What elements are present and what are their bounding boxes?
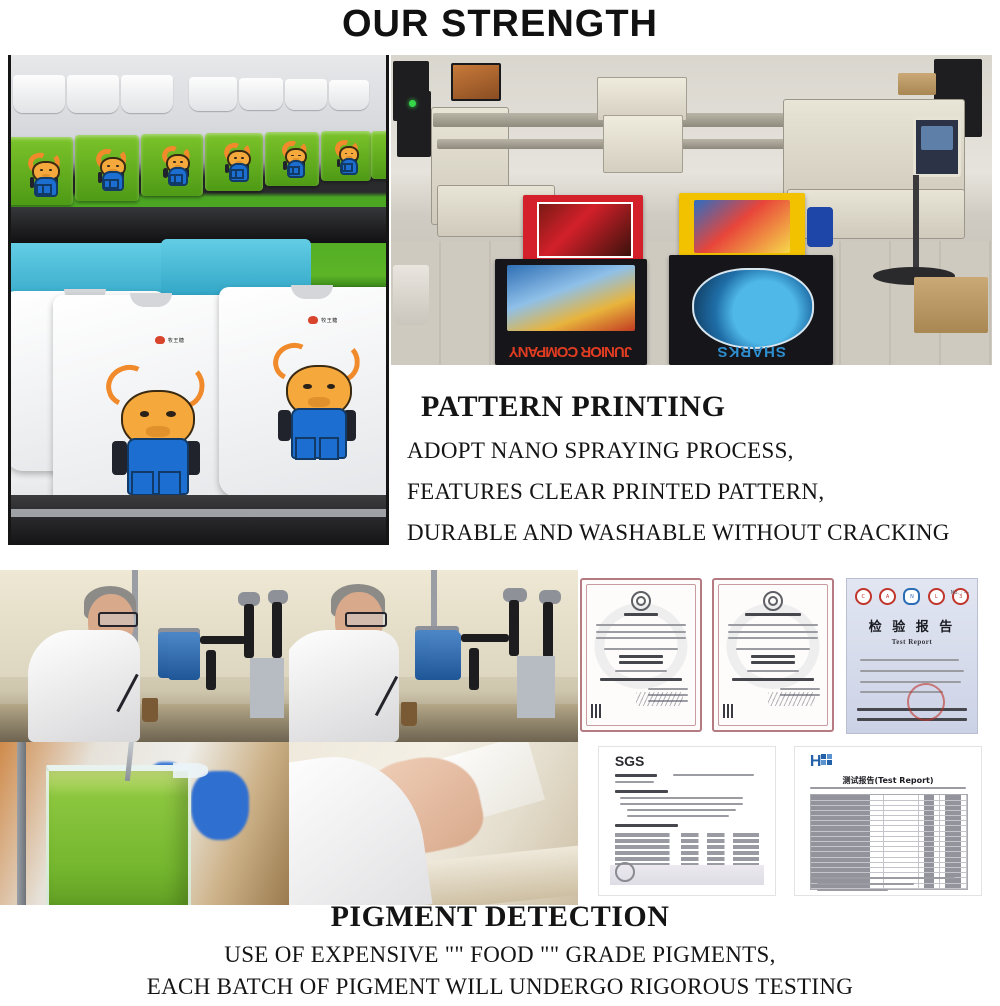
photo-lab-technician-right xyxy=(289,570,578,742)
table-row xyxy=(615,839,759,843)
equipment-column xyxy=(244,604,254,658)
photo-technician-hands-sample xyxy=(289,742,578,905)
pattern-printing-heading: PATTERN PRINTING xyxy=(421,390,992,424)
table-row xyxy=(615,833,759,837)
beaker-with-green-liquid xyxy=(46,765,191,905)
platen-red-print xyxy=(523,195,643,265)
bull-mascot-icon-large xyxy=(104,364,208,496)
brand-logo-mark: 牧王糖 xyxy=(155,336,185,344)
rack-shirt xyxy=(329,80,369,110)
lab-stand xyxy=(250,658,284,718)
clamp-arm xyxy=(469,648,479,690)
pigment-detection-text-block: PIGMENT DETECTION USE OF EXPENSIVE "" FO… xyxy=(0,900,1000,1006)
table-row xyxy=(615,845,759,849)
certificate-text-line xyxy=(648,688,688,690)
report-title-en: Test Report xyxy=(847,638,977,646)
platen-black-print-right: SHARKS xyxy=(669,255,833,365)
report-field-line xyxy=(860,670,964,672)
rack-shirt xyxy=(121,75,173,113)
clamp-arm xyxy=(461,634,509,642)
hj-logo-square-icon xyxy=(821,754,832,765)
certificate-text-line xyxy=(615,670,667,672)
printer-control-screen[interactable] xyxy=(913,117,961,177)
brand-logo-text: 牧王糖 xyxy=(168,337,185,344)
clamp-arm xyxy=(206,650,216,690)
sharks-text: SHARKS xyxy=(679,343,823,360)
certificate-barcode-icon xyxy=(591,704,603,718)
cal-badge-icon: L xyxy=(928,588,945,605)
bull-mascot-icon xyxy=(95,149,127,189)
bull-mascot-icon xyxy=(27,153,61,195)
report-number-label: No. : --- xyxy=(951,590,970,596)
printed-shirt: 牧王糖 xyxy=(219,287,389,497)
safety-glasses-icon xyxy=(345,612,387,627)
pattern-printing-line-2: FEATURES CLEAR PRINTED PATTERN, xyxy=(407,479,992,505)
rack-shirt xyxy=(189,77,237,111)
lab-scene-background xyxy=(0,570,289,742)
certificates-panel: C A N L 3 No. : --- 检 验 报 告 Test Report … xyxy=(580,570,1000,905)
equipment-column xyxy=(272,602,282,658)
technician-lab-coat xyxy=(289,630,399,742)
background-blue-glove xyxy=(191,771,249,839)
hj-results-table xyxy=(810,794,968,889)
poster-root: OUR STRENGTH xyxy=(0,0,1000,1000)
control-tablet xyxy=(451,63,501,101)
rack-shirt xyxy=(285,79,327,110)
certificate-text-line xyxy=(728,624,818,626)
cardboard-box xyxy=(898,73,936,95)
lab-stand xyxy=(517,656,555,718)
photo-uv-flatbed-printer: JUNIOR COMPANY SHARKS xyxy=(391,55,992,365)
lab-mixer-motor xyxy=(168,634,200,680)
bull-mascot-icon xyxy=(161,146,191,184)
page-title: OUR STRENGTH xyxy=(0,2,1000,46)
sgs-section-line xyxy=(615,790,668,793)
plastic-bucket xyxy=(393,265,429,325)
beaker-spout xyxy=(173,763,208,778)
pattern-printing-line-3: DURABLE AND WASHABLE WITHOUT CRACKING xyxy=(407,520,992,546)
machine-base-frame xyxy=(11,495,386,545)
certificate-scope-line xyxy=(732,678,815,681)
photo-green-pigment-beaker xyxy=(0,742,289,905)
brand-bull-icon xyxy=(308,316,318,324)
table-row xyxy=(615,857,759,861)
platen-black-print-left: JUNIOR COMPANY xyxy=(495,259,647,365)
blue-tool xyxy=(807,207,833,247)
floor-carton xyxy=(914,277,988,333)
certificate-iso-english xyxy=(712,578,834,732)
monitor-pole xyxy=(913,175,919,275)
yellow-print-artwork xyxy=(694,200,790,253)
equipment-column xyxy=(543,602,553,658)
hj-footnote-line xyxy=(817,889,888,891)
certificate-text-line xyxy=(596,624,686,626)
lab-scene-background xyxy=(289,570,578,742)
bull-mascot-icon xyxy=(281,141,307,175)
pattern-printing-line-1: ADOPT NANO SPRAYING PROCESS, xyxy=(407,438,992,464)
sample-bottle xyxy=(401,702,417,726)
certificate-standard-line xyxy=(751,655,796,658)
certificate-text-line xyxy=(728,637,818,639)
sgs-header-line xyxy=(615,781,654,783)
cnas-badge-icon: N xyxy=(903,588,920,605)
certificate-signature xyxy=(636,692,683,706)
certificate-text-line xyxy=(736,648,809,650)
conveyor-belt xyxy=(11,207,386,243)
sgs-text-line xyxy=(620,797,743,799)
certificate-scope-line xyxy=(600,678,683,681)
certificate-standard-line xyxy=(751,661,796,664)
certificate-text-line xyxy=(604,648,677,650)
pigment-detection-line-2: EACH BATCH OF PIGMENT WILL UNDERGO RIGOR… xyxy=(0,974,1000,1000)
cqc-badge-icon: C xyxy=(855,588,872,605)
red-print-artwork xyxy=(537,202,632,258)
sgs-text-line xyxy=(620,803,743,805)
hj-header-line xyxy=(810,787,966,789)
lab-mixer-motor xyxy=(429,632,461,680)
certificate-text-line xyxy=(780,688,820,690)
certificate-title-line xyxy=(624,613,657,616)
hj-footnote-line xyxy=(817,883,914,885)
sgs-logo: SGS xyxy=(615,753,645,769)
brand-logo-mark: 牧王糖 xyxy=(308,316,338,324)
hj-logo-letter: H xyxy=(810,753,822,770)
brand-logo-text: 牧王糖 xyxy=(321,317,338,324)
sgs-stamp-icon xyxy=(615,862,635,882)
rack-shirt xyxy=(13,75,65,113)
pigment-detection-heading: PIGMENT DETECTION xyxy=(0,900,1000,934)
hj-report-title: 测试报告(Test Report) xyxy=(795,775,981,786)
sgs-doc-label-line xyxy=(615,774,657,777)
stand-post xyxy=(17,742,26,905)
certificate-text-line xyxy=(596,631,686,633)
report-field-line xyxy=(860,681,961,683)
certificate-standard-line xyxy=(619,661,664,664)
equipment-column xyxy=(509,600,519,656)
junior-company-artwork xyxy=(507,265,635,331)
certificate-text-line xyxy=(747,670,799,672)
certificate-standard-line xyxy=(619,655,664,658)
hj-logo: H xyxy=(810,753,833,771)
brand-bull-icon xyxy=(155,336,165,344)
report-issuer-line xyxy=(857,718,966,721)
rack-shirt xyxy=(239,78,283,110)
machine-rail xyxy=(11,509,386,517)
power-led-icon xyxy=(409,100,416,107)
certificate-text-line xyxy=(728,631,818,633)
certificate-text-line xyxy=(596,637,686,639)
rack-shirt xyxy=(67,75,119,113)
sgs-header-line xyxy=(673,774,754,776)
sgs-section-line xyxy=(615,824,678,827)
sgs-text-line xyxy=(627,809,736,811)
certificate-title-line xyxy=(745,613,802,616)
certificate-sgs-report: SGS xyxy=(598,746,776,896)
pigment-detection-line-1: USE OF EXPENSIVE "" FOOD "" GRADE PIGMEN… xyxy=(0,942,1000,968)
sample-bottle xyxy=(142,698,158,722)
bull-mascot-icon xyxy=(335,140,359,172)
sgs-text-line xyxy=(627,815,729,817)
hj-footnote-line xyxy=(810,877,955,879)
bull-mascot-icon-large xyxy=(271,342,363,460)
report-field-line xyxy=(860,659,959,661)
printhead-body xyxy=(603,115,683,173)
shark-artwork xyxy=(692,268,814,349)
certification-seal-icon xyxy=(631,591,651,611)
bull-mascot-icon xyxy=(223,143,251,179)
safety-glasses-icon xyxy=(98,612,138,627)
certificate-barcode-icon xyxy=(723,704,735,718)
certificate-iso-chinese xyxy=(580,578,702,732)
certificate-signature xyxy=(768,692,815,706)
photo-conveyor-printing-line: 牧王糖 牧王糖 xyxy=(8,55,389,545)
certificate-test-report-cn: C A N L 3 No. : --- 检 验 报 告 Test Report xyxy=(846,578,978,734)
cma-badge-icon: A xyxy=(879,588,896,605)
clamp-arm xyxy=(200,636,246,644)
pattern-printing-text-block: PATTERN PRINTING ADOPT NANO SPRAYING PRO… xyxy=(391,390,992,561)
table-row xyxy=(615,851,759,855)
report-title-cn: 检 验 报 告 xyxy=(847,616,977,635)
hands-scene-background xyxy=(289,742,578,905)
photo-lab-technician-left xyxy=(0,570,289,742)
junior-company-text: JUNIOR COMPANY xyxy=(504,344,638,359)
certificate-hj-test-report: H 测试报告(Test Report) xyxy=(794,746,982,896)
technician-lab-coat xyxy=(28,630,140,742)
platen-green xyxy=(371,131,389,179)
beaker-scene-background xyxy=(0,742,289,905)
certification-seal-icon xyxy=(763,591,783,611)
